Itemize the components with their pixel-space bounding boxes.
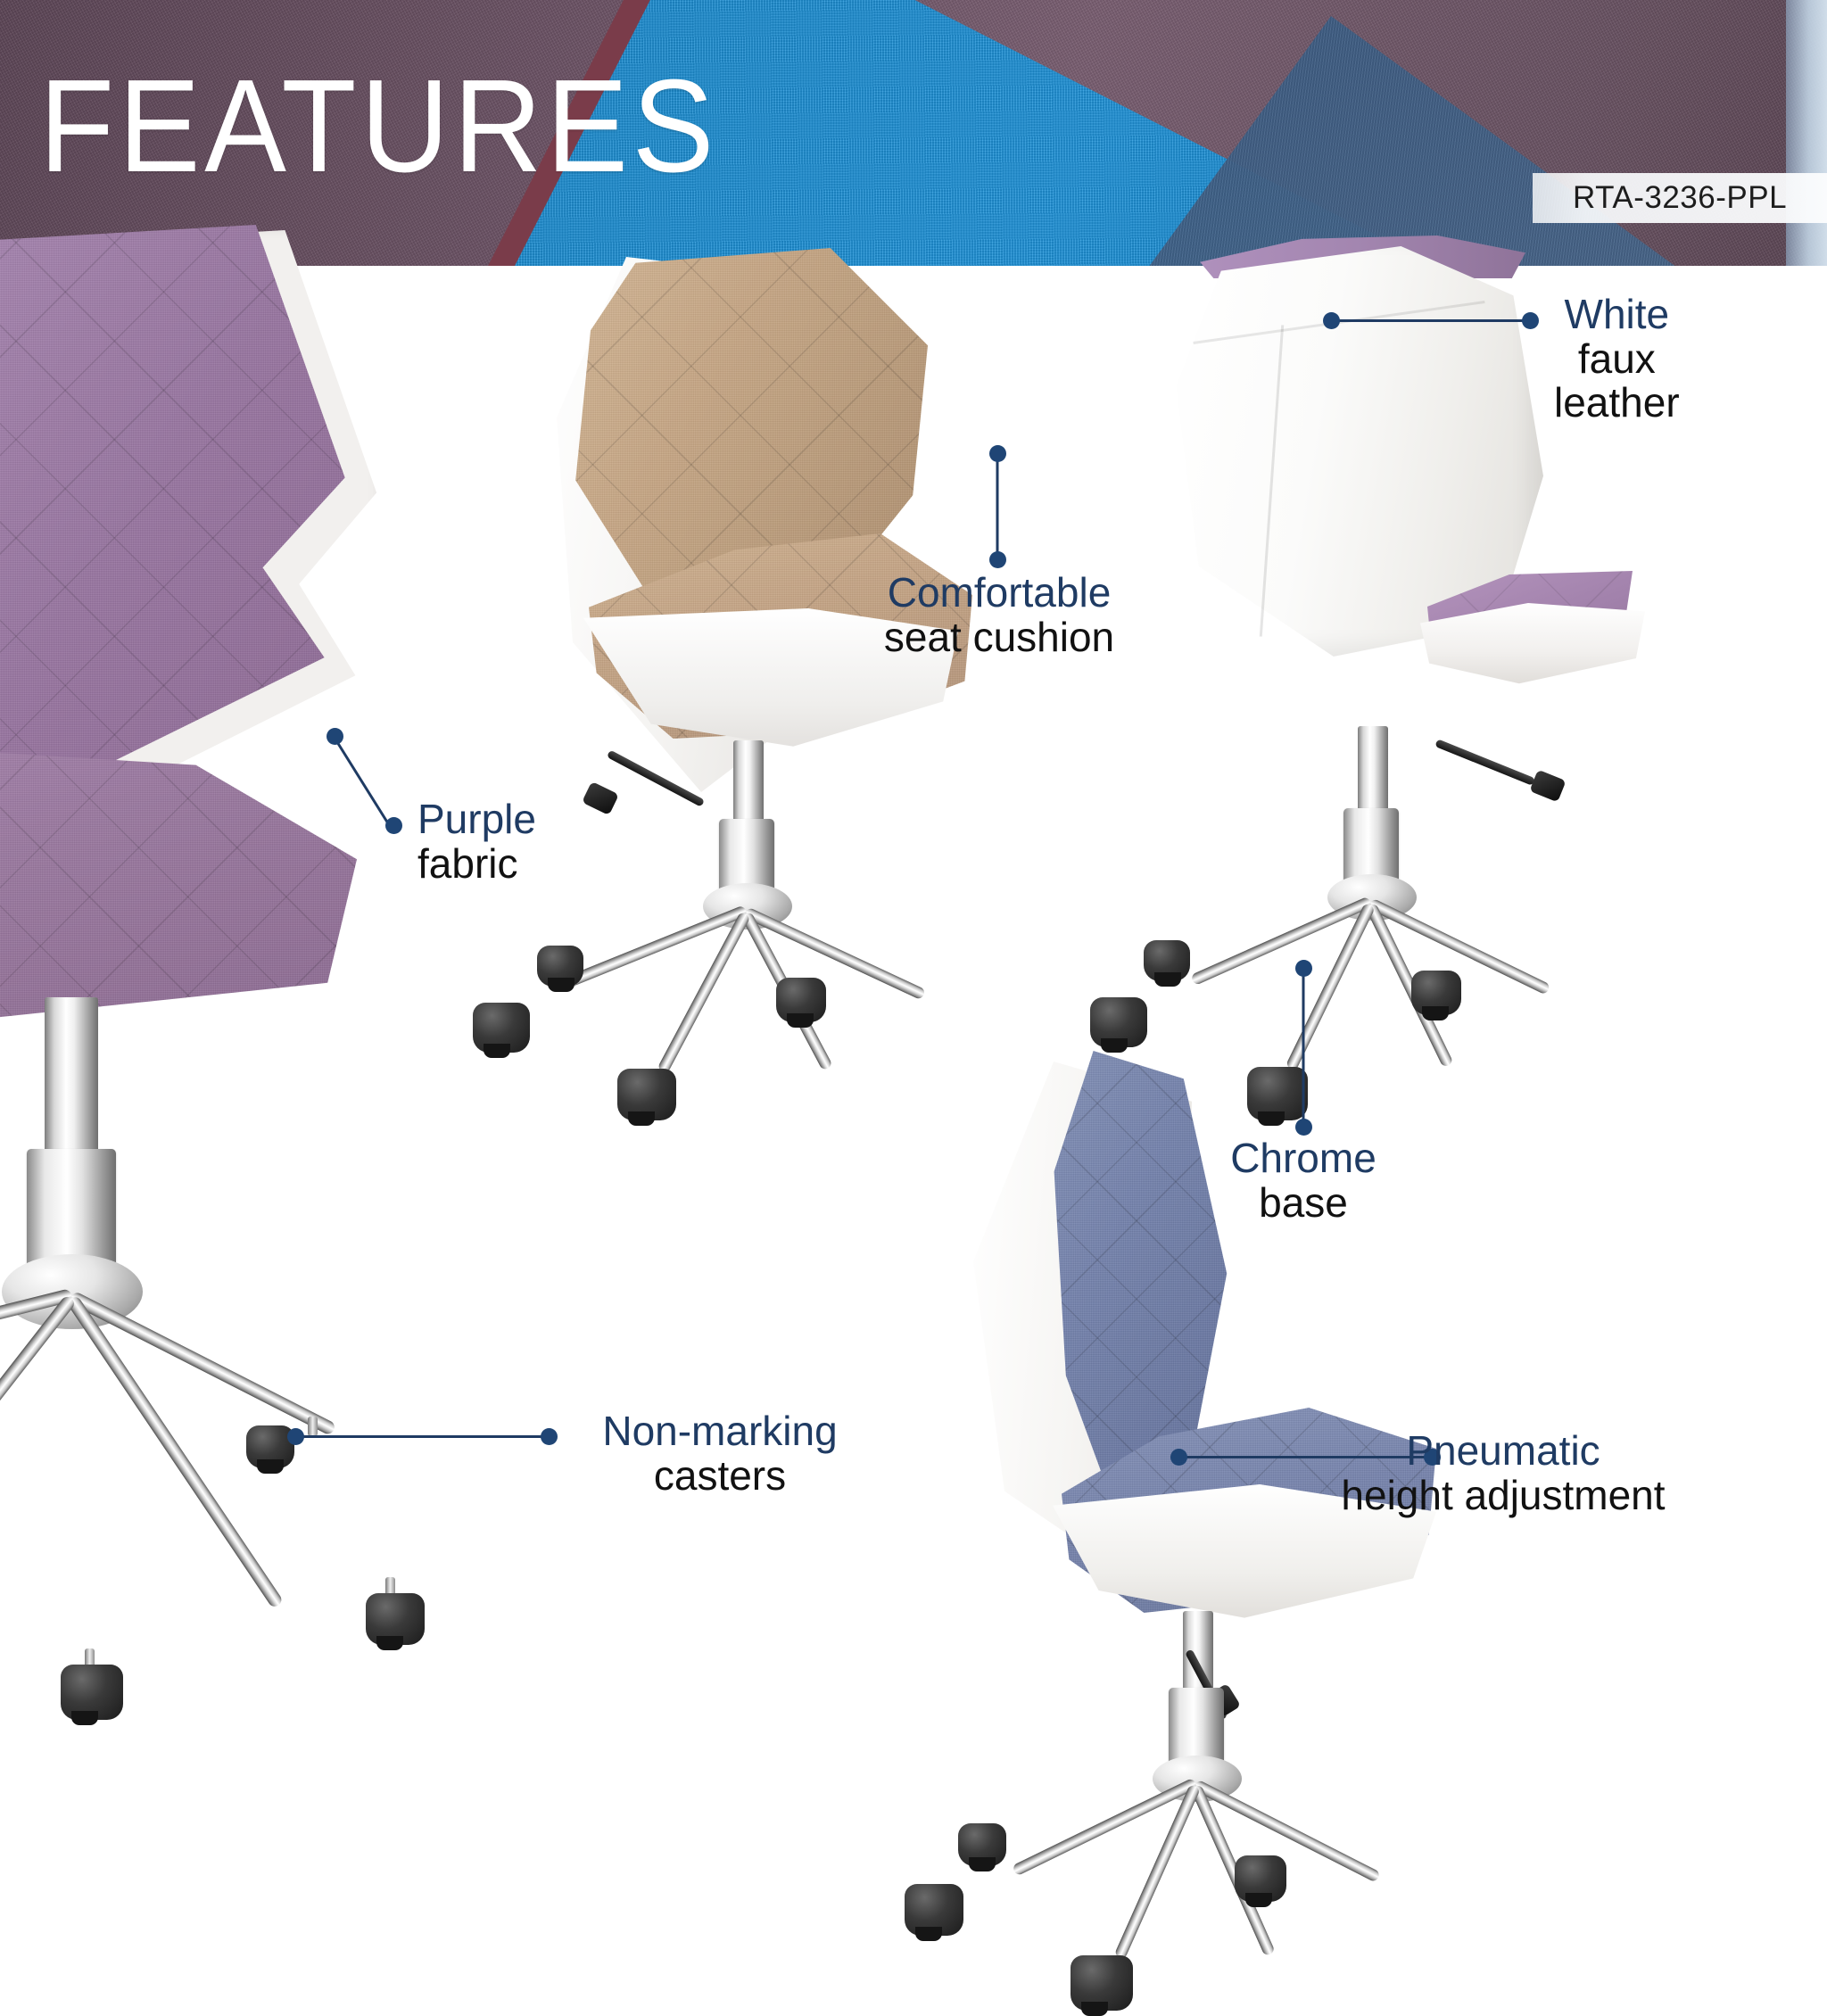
callout-label: Non-marking casters: [573, 1409, 867, 1498]
product-purple-chair: [0, 230, 553, 1747]
white-chair-gas-cylinder: [1358, 726, 1388, 815]
callout-line-2: base: [1188, 1181, 1418, 1226]
purple-chair-leg: [0, 1294, 77, 1583]
white-chair-caster: [1090, 997, 1147, 1047]
callout-leader-line: [1329, 319, 1534, 322]
callout-line-2b: leather: [1554, 381, 1680, 426]
callout-line-2: seat cushion: [883, 616, 1115, 660]
beige-chair-caster: [617, 1069, 676, 1120]
callout-line-2: fabric: [417, 842, 536, 887]
beige-chair-lever-knob: [582, 781, 619, 815]
white-chair-caster: [1411, 971, 1461, 1015]
purple-chair-caster-stem: [308, 1417, 318, 1436]
blue-chair-caster: [905, 1884, 963, 1936]
beige-chair-caster: [473, 1003, 530, 1053]
callout-label-dot: [989, 551, 1006, 568]
callout-line-1: Pneumatic: [1285, 1429, 1722, 1474]
callout-label: Comfortable seat cushion: [883, 571, 1115, 659]
callout-anchor-dot: [1170, 1449, 1187, 1466]
product-canvas: White faux leather Comfortable seat cush…: [0, 266, 1827, 1827]
beige-chair-caster: [776, 978, 826, 1022]
blue-chair-caster: [958, 1823, 1006, 1866]
callout-label: Chrome base: [1188, 1136, 1418, 1225]
callout-leader-line: [294, 1435, 553, 1438]
callout-line-1: Non-marking: [573, 1409, 867, 1454]
callout-line-1: Comfortable: [883, 571, 1115, 616]
callout-anchor-dot: [287, 1428, 304, 1445]
sku-text: RTA-3236-PPL: [1573, 180, 1787, 216]
callout-leader-line: [996, 455, 999, 560]
callout-label: Purple fabric: [417, 797, 536, 886]
purple-chair-seat: [0, 730, 357, 1024]
callout-leader-line: [1302, 969, 1305, 1126]
purple-chair-caster: [61, 1665, 123, 1720]
callout-label-dot: [541, 1428, 558, 1445]
purple-chair-gas-cylinder: [45, 997, 98, 1158]
beige-chair-caster: [537, 946, 583, 987]
callout-anchor-dot: [1295, 960, 1312, 977]
purple-seat-quilting: [0, 730, 357, 1024]
banner-right-edge-highlight: [1786, 0, 1827, 266]
callout-line-1: Chrome: [1188, 1136, 1418, 1181]
callout-label: Pneumatic height adjustment: [1285, 1429, 1722, 1517]
callout-line-1: Purple: [417, 797, 536, 842]
white-chair-height-lever: [1434, 739, 1535, 786]
page-title: FEATURES: [39, 61, 718, 193]
callout-line-2: casters: [573, 1454, 867, 1499]
purple-chair-caster: [366, 1593, 425, 1645]
callout-label-dot: [1295, 1119, 1312, 1136]
callout-line-2a: faux: [1554, 337, 1680, 382]
blue-chair-caster: [1071, 1955, 1133, 2011]
blue-chair-caster: [1235, 1855, 1286, 1902]
callout-label-dot: [1522, 312, 1539, 329]
beige-chair-leg: [565, 905, 748, 987]
beige-chair-gas-cylinder: [733, 740, 764, 826]
callout-line-2: height adjustment: [1285, 1474, 1722, 1518]
product-beige-chair: [571, 248, 1035, 837]
header-banner: FEATURES RTA-3236-PPL: [0, 0, 1827, 266]
callout-anchor-dot: [989, 445, 1006, 462]
purple-chair-caster: [246, 1425, 294, 1468]
callout-line-1: White: [1554, 293, 1680, 337]
callout-label: White faux leather: [1554, 293, 1680, 426]
sku-badge: RTA-3236-PPL: [1533, 173, 1827, 223]
white-chair-caster: [1144, 940, 1190, 981]
white-chair-lever-knob: [1529, 770, 1566, 803]
callout-anchor-dot: [1323, 312, 1340, 329]
callout-anchor-dot: [327, 728, 343, 745]
callout-label-dot: [385, 817, 402, 834]
